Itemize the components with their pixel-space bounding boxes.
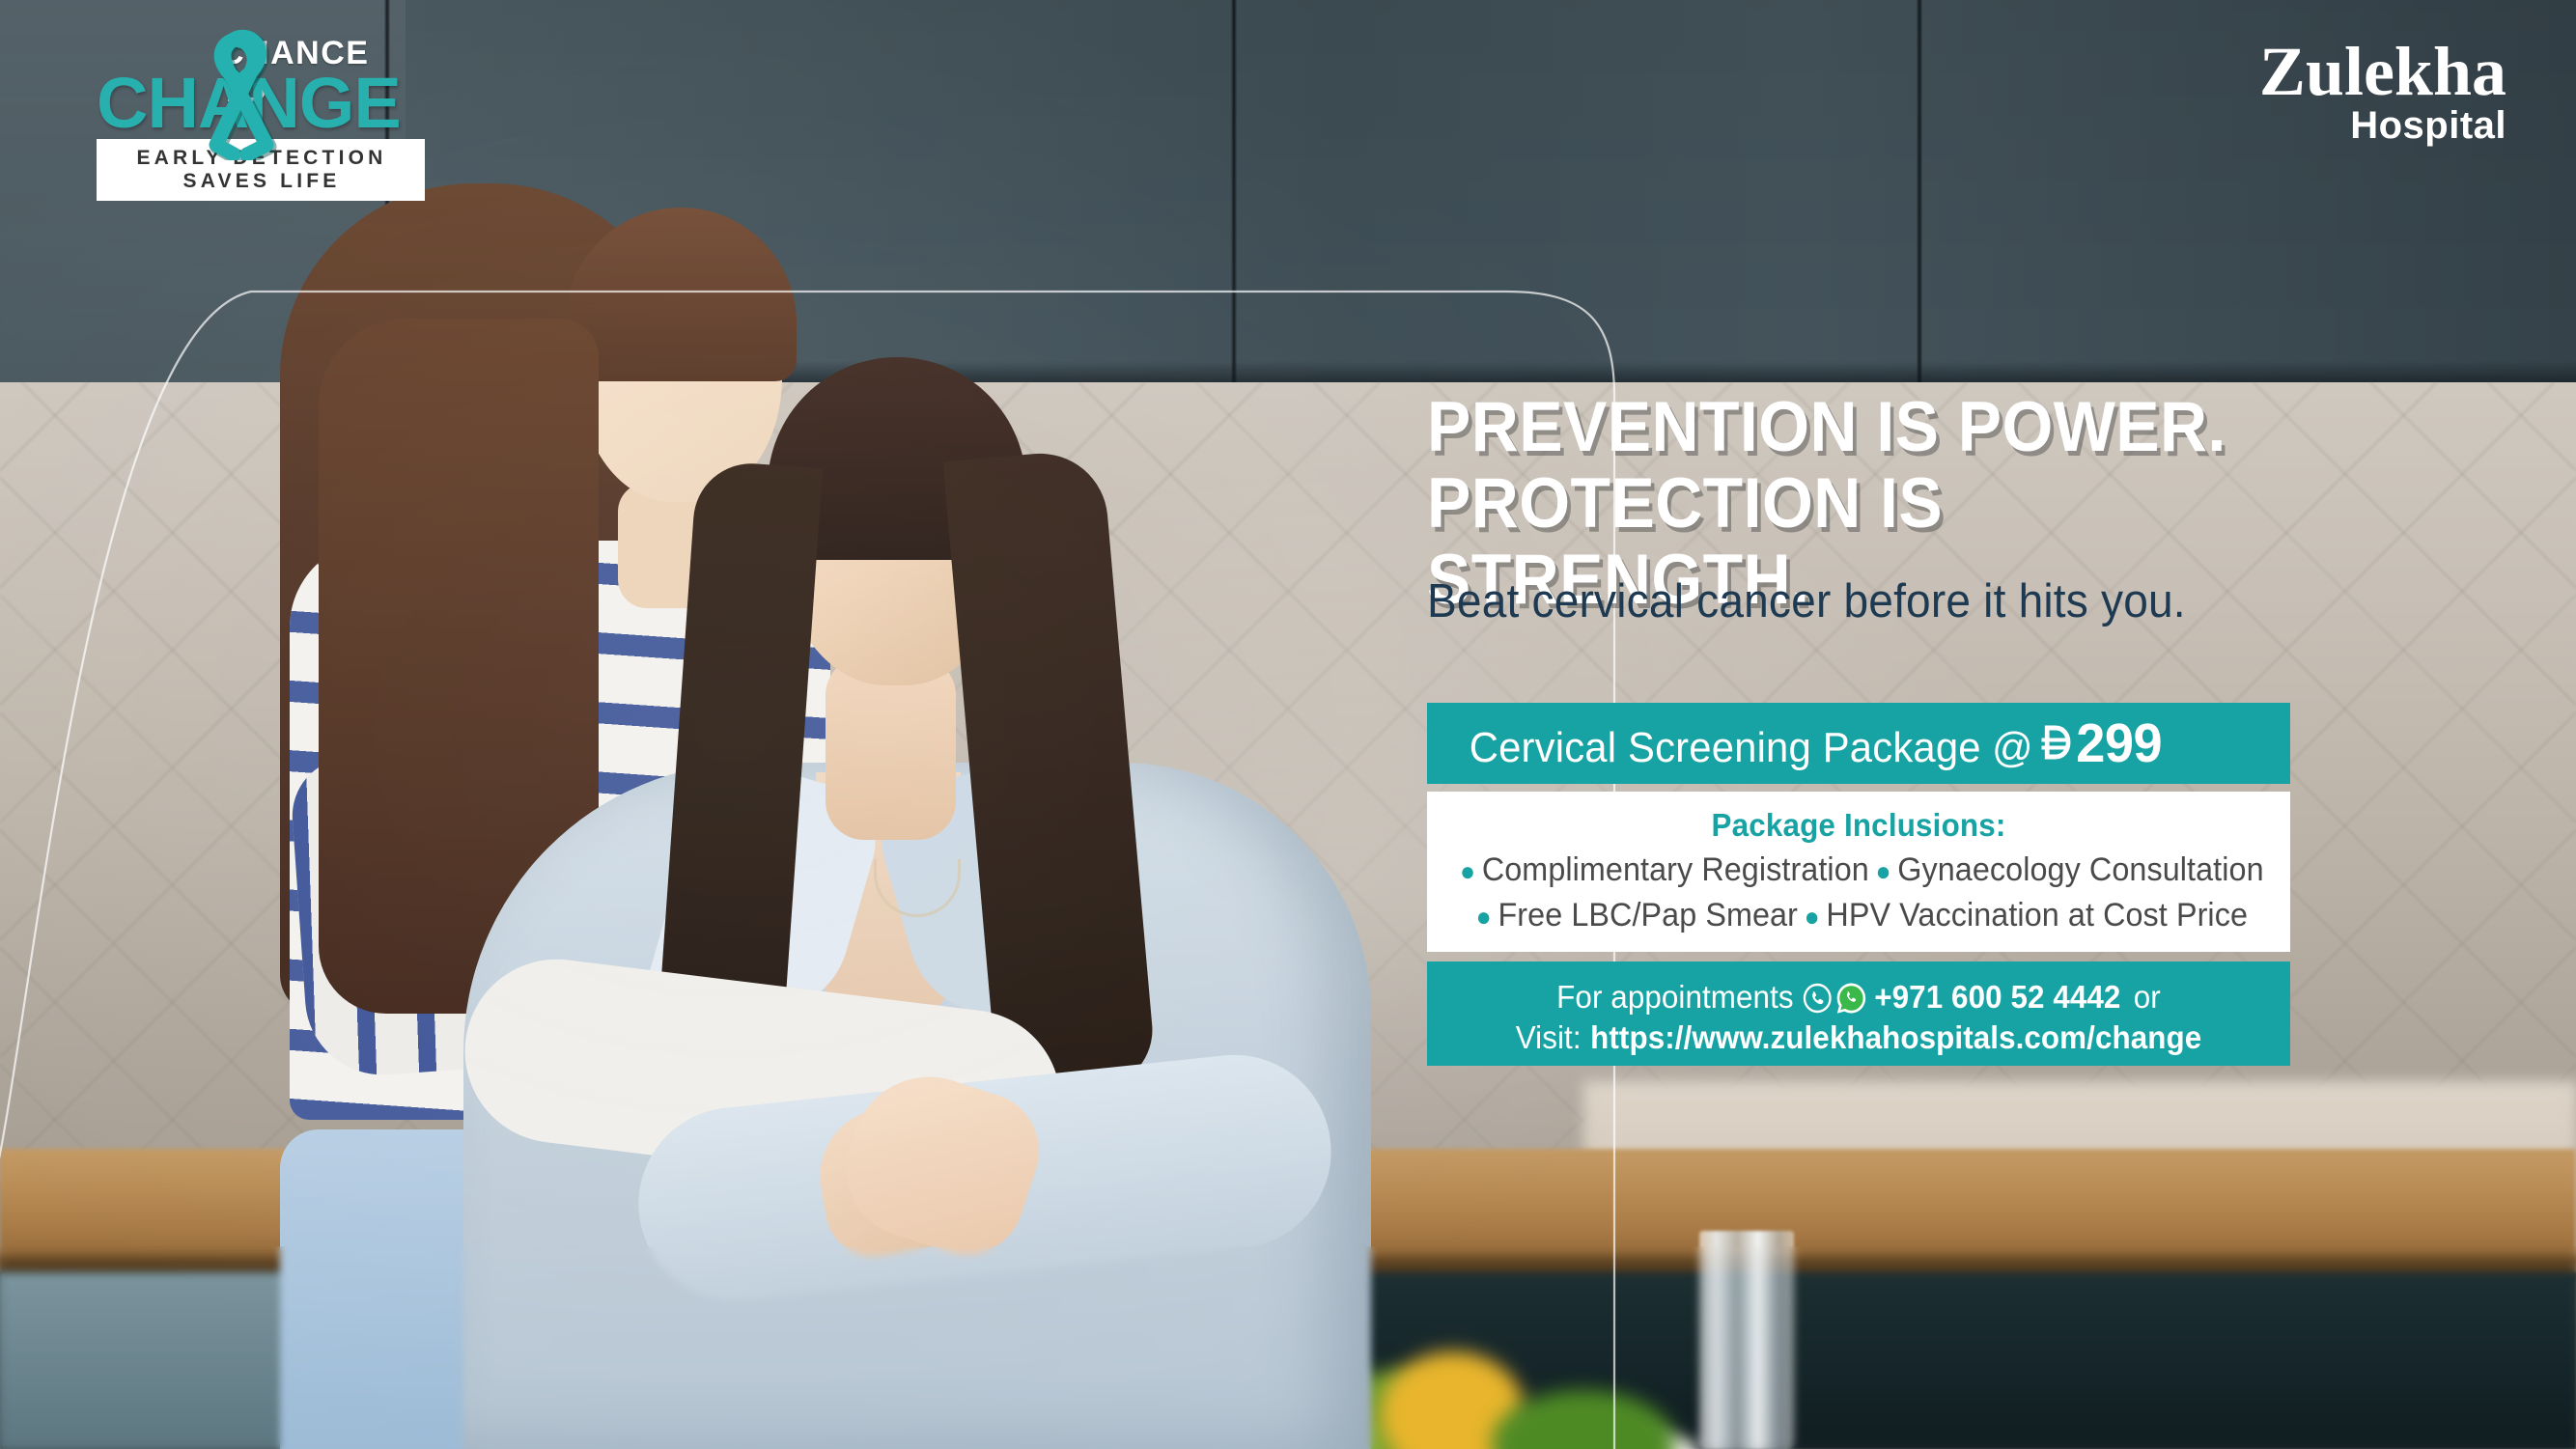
- drinking-glass: [1699, 1231, 1794, 1449]
- advertisement-banner: CHANCE TO CHANGE EARLY DETECTION SAVES L…: [0, 0, 2576, 1449]
- cabinet-seam: [1917, 0, 1922, 386]
- phone-circle-icon[interactable]: [1795, 977, 1834, 1017]
- connector-or: or: [2134, 977, 2161, 1017]
- inclusions-title: Package Inclusions:: [1448, 807, 2268, 844]
- cabinet-seam: [1231, 0, 1237, 386]
- website-url[interactable]: https://www.zulekhahospitals.com/change: [1590, 1017, 2201, 1058]
- inclusion-item: Complimentary Registration: [1482, 851, 1869, 888]
- inclusion-item: HPV Vaccination at Cost Price: [1826, 897, 2248, 933]
- contact-phone-line: For appointments +971 600 52 4442 or: [1448, 977, 2268, 1017]
- inclusions-line-1: ●Complimentary Registration●Gynaecology …: [1448, 851, 2268, 889]
- hospital-logo: Zulekha Hospital: [2259, 39, 2506, 145]
- lower-cabinet-left: [0, 1272, 290, 1449]
- bullet-icon: ●: [1460, 856, 1475, 886]
- inclusion-item: Free LBC/Pap Smear: [1498, 897, 1797, 933]
- package-label: Cervical Screening Package: [1470, 724, 1981, 772]
- campaign-logo-wordmark: CHANCE TO CHANGE: [97, 27, 425, 135]
- headline-line-1: PREVENTION IS POWER.: [1427, 390, 2343, 466]
- contact-url-line: Visit: https://www.zulekhahospitals.com/…: [1448, 1017, 2268, 1058]
- price-banner: Cervical Screening Package @ 299: [1427, 703, 2290, 784]
- hospital-subtitle: Hospital: [2259, 106, 2506, 145]
- contact-banner: For appointments +971 600 52 4442 or Vis…: [1427, 961, 2290, 1066]
- bullet-icon: ●: [1805, 902, 1820, 932]
- phone-number[interactable]: +971 600 52 4442: [1874, 977, 2120, 1017]
- appointments-label: For appointments: [1556, 977, 1793, 1017]
- bullet-icon: ●: [1875, 856, 1890, 886]
- whatsapp-icon[interactable]: [1835, 977, 1873, 1017]
- package-inclusions-card: Package Inclusions: ●Complimentary Regis…: [1427, 792, 2290, 952]
- awareness-ribbon-icon: [185, 25, 301, 160]
- uae-dirham-icon: [2039, 723, 2070, 766]
- hero-subheadline: Beat cervical cancer before it hits you.: [1427, 574, 2335, 628]
- inclusions-line-2: ●Free LBC/Pap Smear●HPV Vaccination at C…: [1448, 897, 2268, 934]
- visit-label: Visit:: [1516, 1017, 1582, 1058]
- price-amount: 299: [2076, 711, 2162, 775]
- campaign-logo: CHANCE TO CHANGE EARLY DETECTION SAVES L…: [97, 27, 425, 201]
- inclusion-item: Gynaecology Consultation: [1897, 851, 2263, 888]
- bullet-icon: ●: [1476, 902, 1492, 932]
- at-symbol: @: [1992, 724, 2032, 772]
- hospital-name: Zulekha: [2259, 39, 2506, 104]
